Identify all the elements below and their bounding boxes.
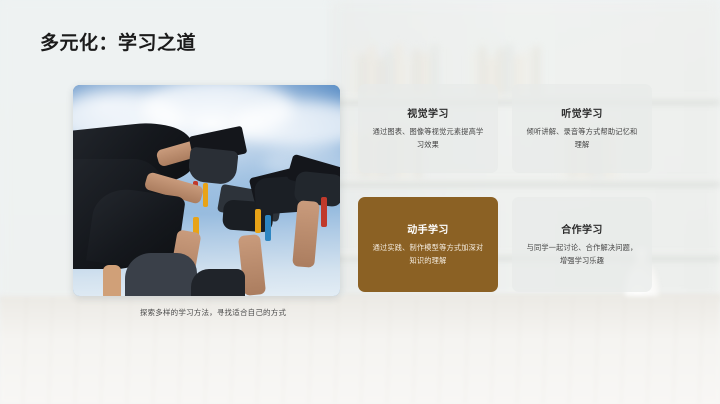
slide-canvas: 多元化：学习之道 xyxy=(0,0,720,404)
raised-arm xyxy=(103,265,121,296)
graduation-gown xyxy=(125,253,197,296)
card-collaborative-learning[interactable]: 合作学习 与同学一起讨论、合作解决问题，增强学习乐趣 xyxy=(512,197,652,292)
photo-caption: 探索多样的学习方法，寻找适合自己的方式 xyxy=(73,307,353,318)
card-description: 与同学一起讨论、合作解决问题，增强学习乐趣 xyxy=(523,242,641,267)
graduation-gown xyxy=(191,269,245,296)
card-auditory-learning[interactable]: 听觉学习 倾听讲解、录音等方式帮助记忆和理解 xyxy=(512,84,652,173)
card-title: 视觉学习 xyxy=(407,105,449,120)
page-title: 多元化：学习之道 xyxy=(40,28,196,55)
card-hands-on-learning[interactable]: 动手学习 通过实践、制作模型等方式加深对知识的理解 xyxy=(358,197,498,292)
card-visual-learning[interactable]: 视觉学习 通过图表、图像等视觉元素提高学习效果 xyxy=(358,84,498,173)
graduation-photo xyxy=(73,85,340,296)
cap-tassel xyxy=(265,215,271,241)
card-title: 听觉学习 xyxy=(561,105,603,120)
cap-tassel xyxy=(321,197,327,227)
shelf-board xyxy=(330,178,720,187)
card-description: 倾听讲解、录音等方式帮助记忆和理解 xyxy=(523,126,641,151)
card-description: 通过实践、制作模型等方式加深对知识的理解 xyxy=(369,242,487,267)
cap-tassel xyxy=(203,183,208,207)
card-description: 通过图表、图像等视觉元素提高学习效果 xyxy=(369,126,487,151)
card-title: 动手学习 xyxy=(407,221,449,236)
card-title: 合作学习 xyxy=(561,221,603,236)
cap-tassel xyxy=(255,209,261,233)
